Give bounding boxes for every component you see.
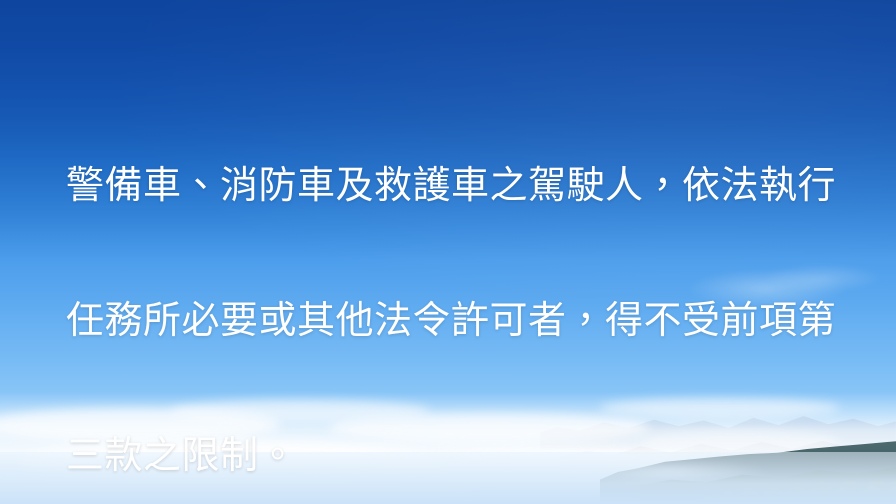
caption-line-1: 警備車、消防車及救護車之駕駛人，依法執行	[66, 164, 856, 209]
slide-caption-text: 警備車、消防車及救護車之駕駛人，依法執行 任務所必要或其他法令許可者，得不受前項…	[66, 74, 856, 504]
caption-line-2: 任務所必要或其他法令許可者，得不受前項第	[66, 299, 856, 344]
presentation-slide: 警備車、消防車及救護車之駕駛人，依法執行 任務所必要或其他法令許可者，得不受前項…	[0, 0, 896, 504]
caption-line-3: 三款之限制。	[66, 434, 856, 479]
